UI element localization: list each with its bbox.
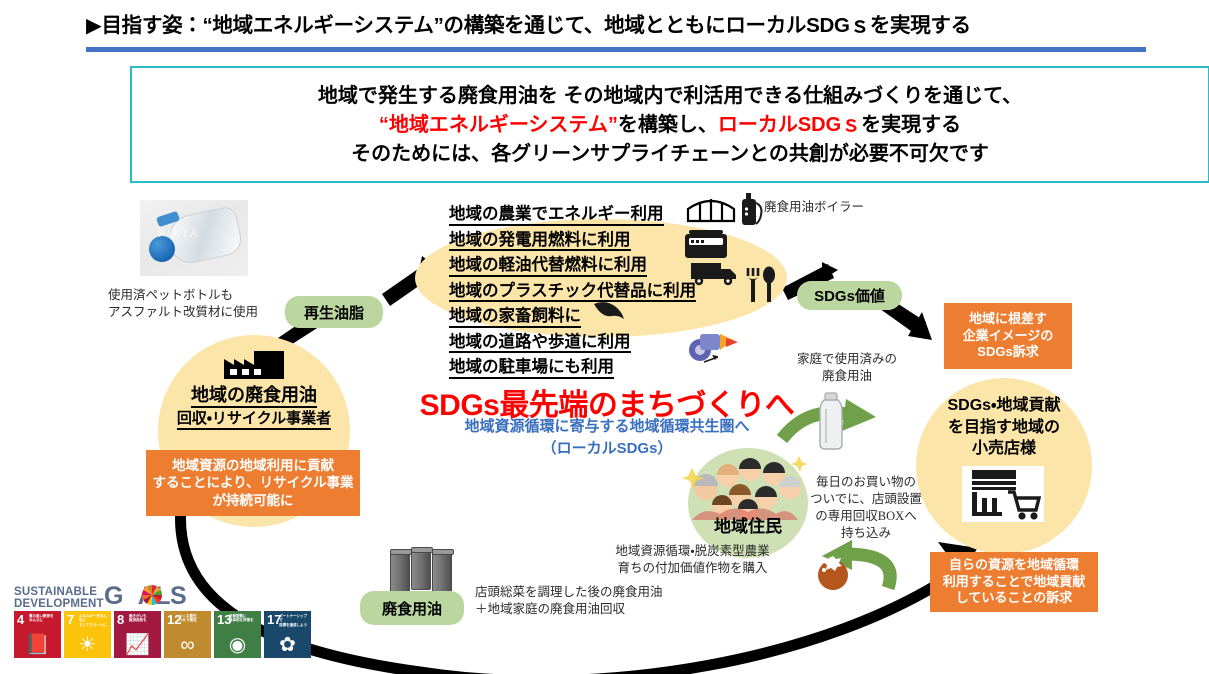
store-oil-caption: 店頭総菜を調理した後の廃食用油 ＋地域家庭の廃食用油回収	[475, 584, 663, 618]
fork-spoon-icon	[744, 266, 776, 304]
retail-image-appeal-box: 地域に根差す 企業イメージの SDGs訴求	[944, 303, 1072, 369]
message-box: 地域で発生する廃食用油を その地域内で利活用できる仕組みづくりを通じて、 “地域…	[130, 66, 1209, 183]
sdg-goal-13-icon: 13気候変動に 具体的な対策を◉	[214, 611, 261, 658]
collector-benefit-line-3: が持続可能に	[213, 492, 294, 509]
sdg-goal-12-icon: 12つくる責任 つかう責任∞	[164, 611, 211, 658]
sdg-goal-label: パートナーシップで 目標を達成しよう	[279, 614, 309, 627]
store-oil-line-2: ＋地域家庭の廃食用油回収	[475, 601, 663, 618]
pill-sdgs-value[interactable]: SDGs価値	[797, 281, 902, 310]
pill-waste-oil[interactable]: 廃食用油	[360, 591, 464, 625]
generator-icon	[684, 230, 728, 260]
sdg-goal-label: 気候変動に 具体的な対策を	[229, 614, 259, 623]
message-line-2-text-b: を構築し、	[618, 114, 718, 136]
sdg-goal-label: つくる責任 つかう責任	[179, 614, 209, 623]
store-oil-line-1: 店頭総菜を調理した後の廃食用油	[475, 584, 663, 601]
page-title: ▶目指す姿：“地域エネルギーシステム”の構築を通じて、地域とともにローカルSDG…	[86, 8, 1146, 38]
collector-line-1: 地域の廃食用油	[191, 385, 317, 408]
purchase-line-1: 地域資源循環・脱炭素型農業	[575, 543, 810, 560]
household-oil-line-2: 廃食用油	[772, 368, 922, 385]
sdg-goal-number: 7	[67, 613, 74, 626]
factory-icon	[222, 345, 286, 381]
sdg-goal-7-icon: 7エネルギーをみんなに そしてクリーンに☀	[64, 611, 111, 658]
sdg-goal-number: 4	[17, 613, 24, 626]
sdg-goal-glyph: 📈	[114, 635, 161, 655]
message-line-2-highlight-c: ローカルSDGｓ	[718, 114, 861, 136]
sdg-goal-glyph: ☀	[64, 635, 111, 655]
retail-contribution-box: 自らの資源を地域循環 利用することで地域貢献 していることの訴求	[930, 552, 1098, 612]
retail-appeal-line-3: SDGs訴求	[977, 344, 1038, 361]
truck-icon	[690, 261, 738, 287]
retail-appeal-line-1: 地域に根差す	[969, 311, 1047, 328]
household-oil-caption: 家庭で使用済みの 廃食用油	[772, 351, 922, 385]
household-oil-line-1: 家庭で使用済みの	[772, 351, 922, 368]
shopping-line-2: ついでに、店頭設置	[796, 491, 936, 508]
boiler-label: 廃食用油ボイラー	[764, 199, 864, 216]
residents-label: 地域住民	[688, 512, 808, 537]
bottle-caption-line-1: 使用済ペットボトルも	[108, 287, 258, 304]
use-list-item: 地域のプラスチック代替品に利用	[449, 283, 696, 303]
title-divider	[86, 47, 1146, 52]
bin	[432, 552, 452, 592]
sdg-logo-line-1: SUSTAINABLE	[14, 586, 104, 598]
retail-line-3: 小売店様	[912, 438, 1096, 460]
slide-root: ▶目指す姿：“地域エネルギーシステム”の構築を通じて、地域とともにローカルSDG…	[0, 0, 1209, 674]
collector-line-2: 回収・リサイクル事業者	[177, 410, 331, 430]
use-list-item: 地域の家畜飼料に	[449, 308, 581, 328]
used-pet-bottle-photo: PIXTA	[140, 200, 248, 276]
retail-line-2: を目指す地域の	[912, 417, 1096, 439]
sdg-goal-8-icon: 8働きがいも 経済成長も📈	[114, 611, 161, 658]
greenhouse-icon	[686, 197, 736, 223]
bin	[390, 552, 410, 592]
retail-contribution-line-3: していることの訴求	[956, 590, 1072, 607]
bottle-caption: 使用済ペットボトルも アスファルト改質材に使用	[108, 287, 258, 321]
livestock-icon	[592, 300, 626, 322]
use-list-item: 地域の発電用燃料に利用	[449, 232, 631, 252]
sdg-color-wheel-icon	[142, 585, 162, 605]
collector-benefit-line-2: することにより、リサイクル事業	[152, 474, 353, 491]
retail-contribution-line-1: 自らの資源を地域循環	[949, 557, 1079, 574]
message-line-1: 地域で発生する廃食用油を その地域内で利活用できる仕組みづくりを通じて、	[318, 83, 1022, 109]
retail-contribution-line-2: 利用することで地域貢献	[943, 574, 1086, 591]
collector-circle-text: 地域の廃食用油 回収・リサイクル事業者	[158, 385, 350, 430]
produce-purchase-caption: 地域資源循環・脱炭素型農業 育ちの付加価値作物を購入	[575, 543, 810, 577]
retail-store-icon	[962, 466, 1044, 522]
shopping-line-1: 毎日のお買い物の	[796, 474, 936, 491]
retail-appeal-line-2: 企業イメージの	[963, 328, 1054, 345]
sdg-goal-4-icon: 4質の高い教育を みんなに📕	[14, 611, 61, 658]
collector-benefit-box: 地域資源の地域利用に貢献 することにより、リサイクル事業 が持続可能に	[146, 450, 360, 516]
use-list-item: 地域の駐車場にも利用	[449, 359, 614, 379]
shopping-line-4: 持ち込み	[796, 525, 936, 542]
photo-watermark: PIXTA	[158, 228, 200, 240]
retail-circle-text: SDGs・地域貢献 を目指す地域の 小売店様	[912, 395, 1096, 460]
use-list-item: 地域の農業でエネルギー利用	[449, 206, 664, 226]
bottle-caption-line-2: アスファルト改質材に使用	[108, 304, 258, 321]
sdg-logo-text: SUSTAINABLE DEVELOPMENT	[14, 586, 104, 610]
sdg-goal-icons: 4質の高い教育を みんなに📕7エネルギーをみんなに そしてクリーンに☀8働きがい…	[14, 611, 311, 658]
sdg-goal-label: 働きがいも 経済成長も	[129, 614, 159, 623]
message-line-2-highlight-a: “地域エネルギーシステム”	[379, 114, 618, 136]
purchase-line-2: 育ちの付加価値作物を購入	[575, 560, 810, 577]
shopping-dropoff-caption: 毎日のお買い物の ついでに、店頭設置 の専用回収BOXへ 持ち込み	[796, 474, 936, 542]
sdg-goal-glyph: 📕	[14, 635, 61, 655]
tomato-icon	[816, 556, 852, 592]
sdg-goal-17-icon: 17パートナーシップで 目標を達成しよう✿	[264, 611, 311, 658]
sdg-goal-glyph: ∞	[164, 635, 211, 655]
retail-line-1: SDGs・地域貢献	[912, 395, 1096, 417]
collection-bins-icon	[390, 548, 460, 596]
message-line-2-text-d: を実現する	[861, 114, 961, 136]
sdg-goals-pre: G	[104, 582, 123, 610]
collector-benefit-line-1: 地域資源の地域利用に貢献	[172, 457, 334, 474]
pill-reclaimed-oil[interactable]: 再生油脂	[285, 296, 383, 328]
sdg-logo-line-2: DEVELOPMENT	[14, 598, 104, 610]
bin	[411, 550, 431, 590]
center-subheadline-1: 地域資源循環に寄与する地域循環共生圏へ	[412, 415, 802, 436]
sdg-goal-number: 8	[117, 613, 124, 626]
sdg-goal-glyph: ◉	[214, 635, 261, 655]
boiler-icon	[738, 193, 762, 227]
use-list-item: 地域の道路や歩道に利用	[449, 334, 631, 354]
sdg-goal-label: 質の高い教育を みんなに	[29, 614, 59, 623]
sdg-goal-label: エネルギーをみんなに そしてクリーンに	[79, 614, 109, 627]
message-line-2: “地域エネルギーシステム”を構築し、ローカルSDGｓを実現する	[379, 112, 961, 138]
oil-bottle-icon	[816, 393, 846, 451]
sdg-goal-glyph: ✿	[264, 635, 311, 655]
shopping-line-3: の専用回収BOXへ	[796, 508, 936, 525]
message-line-3: そのためには、各グリーンサプライチェーンとの共創が必要不可欠です	[351, 141, 989, 167]
burner-flame-icon	[684, 320, 742, 368]
use-list-item: 地域の軽油代替燃料に利用	[449, 257, 647, 277]
